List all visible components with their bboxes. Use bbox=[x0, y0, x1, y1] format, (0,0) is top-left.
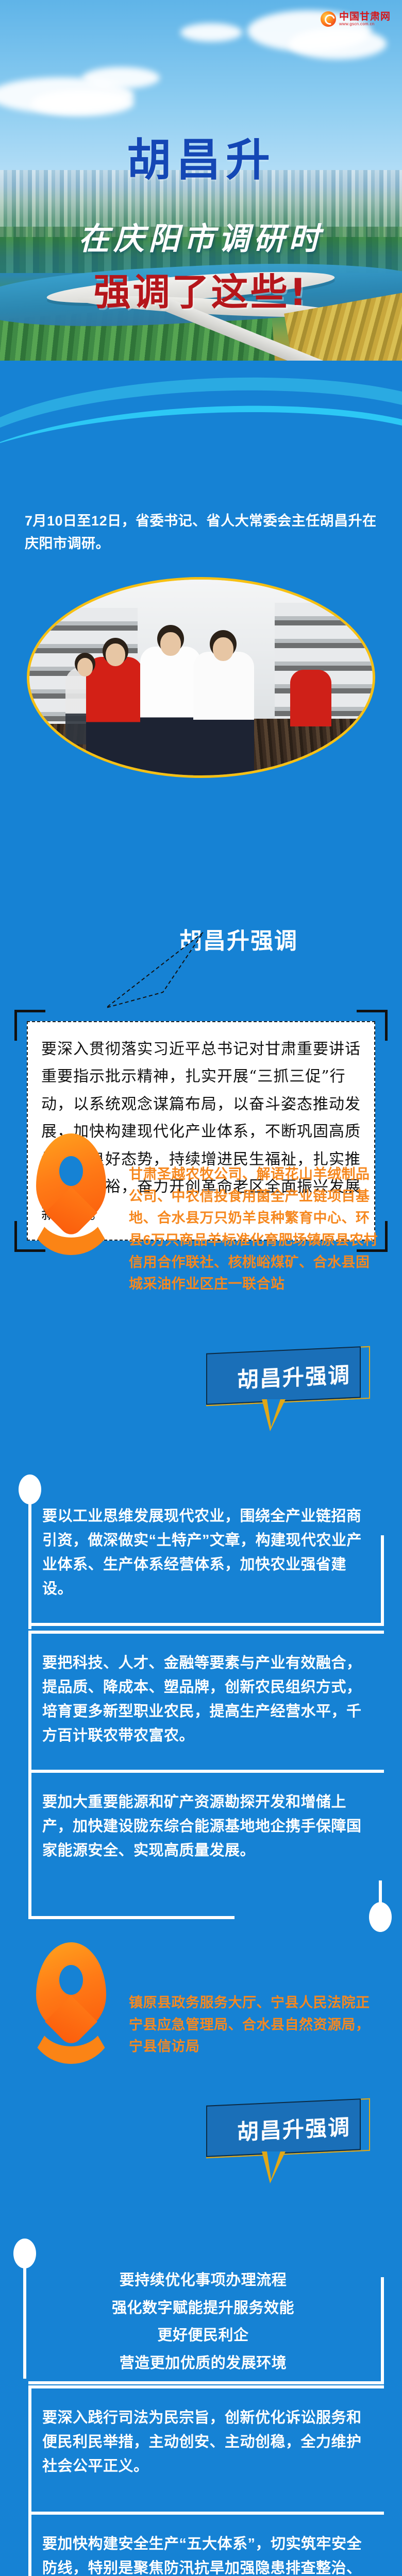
person-official-2 bbox=[193, 652, 254, 775]
bracket-bar-left bbox=[28, 2512, 31, 2576]
statement-text-6: 要加快构建安全生产“五大体系”，切实筑牢安全防线，特别是聚焦防汛抗旱加强隐患排查… bbox=[15, 2512, 387, 2576]
speech-banner-2: 胡昌升强调 bbox=[206, 1350, 376, 1406]
infographic-poster: 中国甘肃网 www.gscn.com.cn 胡昌升 在庆阳市调研时 强调了这些!… bbox=[0, 0, 402, 2576]
corner-bracket bbox=[14, 1010, 45, 1041]
person-staff-red-2 bbox=[290, 670, 331, 726]
person-staff-red bbox=[86, 657, 143, 775]
bracket-bar-bottom bbox=[28, 1623, 384, 1626]
statement-block-2: 要把科技、人才、金融等要素与产业有效融合，提品质、降成本、塑品牌，创新农民组织方… bbox=[15, 1631, 387, 1766]
statement-text-5: 要深入践行司法为民宗旨，创新优化诉讼服务和便民利民举措，主动创安、主动创稳，全力… bbox=[15, 2385, 387, 2496]
wave-divider bbox=[0, 355, 402, 443]
bracket-bar-bottom bbox=[28, 2381, 384, 2384]
location-pin-icon bbox=[25, 1942, 118, 2064]
hero-accent-title: 强调了这些! bbox=[0, 262, 402, 316]
statement-block-4: 要持续优化事项办理流程 强化数字赋能提升服务效能 更好便民利企 营造更加优质的发… bbox=[15, 2246, 387, 2395]
location-list-1: 甘肃圣越农牧公司、解语花山羊绒制品公司、中农信投食用菌全产业链项目基地、合水县万… bbox=[129, 1133, 380, 1295]
bracket-bar-top bbox=[28, 2512, 384, 2515]
statement-block-6: 要加快构建安全生产“五大体系”，切实筑牢安全防线，特别是聚焦防汛抗旱加强隐患排查… bbox=[15, 2512, 387, 2576]
bracket-bar-top bbox=[28, 2385, 384, 2388]
statement-text-2: 要把科技、人才、金融等要素与产业有效融合，提品质、降成本、塑品牌，创新农民组织方… bbox=[15, 1631, 387, 1766]
lollipop-stem bbox=[379, 1880, 382, 1909]
speech-banner-label-2: 胡昌升强调 bbox=[216, 1346, 371, 1405]
statement-line: 更好便民利企 bbox=[42, 2322, 364, 2350]
page-title: 胡昌升 bbox=[0, 124, 402, 188]
intro-paragraph: 7月10日至12日，省委书记、省人大常委会主任胡昌升在庆阳市调研。 bbox=[25, 510, 380, 555]
location-pin-block-2: 镇原县政务服务大厅、宁县人民法院正宁县应急管理局、合水县自然资源局，宁县信访局 bbox=[25, 1942, 380, 2064]
statement-line: 营造更加优质的发展环境 bbox=[42, 2350, 364, 2378]
bracket-bar-right bbox=[381, 1535, 384, 1626]
cloud-decoration bbox=[31, 90, 134, 116]
banner-tail-inner bbox=[267, 2151, 280, 2179]
speech-banner-label-3: 胡昌升强调 bbox=[216, 2098, 371, 2157]
leader-photo bbox=[27, 577, 375, 778]
gscn-logo-icon bbox=[321, 11, 336, 27]
cloud-decoration bbox=[82, 67, 160, 89]
statement-block-3: 要加大重要能源和矿产资源勘探开发和增储上产，加快建设陇东综合能源基地地企携手保障… bbox=[15, 1770, 387, 1880]
statement-block-1: 要以工业思维发展现代农业，围绕全产业链招商引资，做深做实“土特产”文章，构建现代… bbox=[15, 1484, 387, 1619]
location-pin-block-1: 甘肃圣越农牧公司、解语花山羊绒制品公司、中农信投食用菌全产业链项目基地、合水县万… bbox=[25, 1133, 380, 1295]
bracket-bar-top bbox=[28, 1770, 384, 1773]
site-logo-name: 中国甘肃网 bbox=[339, 12, 391, 22]
person-official-1 bbox=[140, 647, 201, 775]
bracket-bar-right bbox=[381, 2277, 384, 2384]
location-list-2: 镇原县政务服务大厅、宁县人民法院正宁县应急管理局、合水县自然资源局，宁县信访局 bbox=[129, 1942, 380, 2058]
site-logo[interactable]: 中国甘肃网 www.gscn.com.cn bbox=[321, 11, 391, 27]
statement-text-3: 要加大重要能源和矿产资源勘探开发和增储上产，加快建设陇东综合能源基地地企携手保障… bbox=[15, 1770, 387, 1880]
cloud-decoration bbox=[289, 28, 387, 59]
corner-bracket bbox=[357, 1010, 388, 1041]
bracket-bar-top bbox=[28, 1631, 384, 1634]
statement-text-1: 要以工业思维发展现代农业，围绕全产业链招商引资，做深做实“土特产”文章，构建现代… bbox=[15, 1484, 387, 1619]
statement-line: 强化数字赋能提升服务效能 bbox=[42, 2295, 364, 2323]
bracket-bar-bottom bbox=[28, 1916, 234, 1919]
banner-tail-inner bbox=[267, 1399, 280, 1427]
statement-lines-4: 要持续优化事项办理流程 强化数字赋能提升服务效能 更好便民利企 营造更加优质的发… bbox=[15, 2246, 387, 2395]
site-logo-url: www.gscn.com.cn bbox=[339, 22, 391, 26]
statement-line: 要持续优化事项办理流程 bbox=[42, 2267, 364, 2295]
speech-banner-3: 胡昌升强调 bbox=[206, 2102, 376, 2159]
location-pin-icon bbox=[25, 1133, 118, 1255]
hero-subtitle: 在庆阳市调研时 bbox=[0, 214, 402, 259]
speech-pointer-1 bbox=[96, 930, 204, 1013]
statement-block-5: 要深入践行司法为民宗旨，创新优化诉讼服务和便民利民举措，主动创安、主动创稳，全力… bbox=[15, 2385, 387, 2496]
bracket-bar-left bbox=[28, 1770, 31, 1919]
cloud-decoration bbox=[180, 23, 242, 42]
